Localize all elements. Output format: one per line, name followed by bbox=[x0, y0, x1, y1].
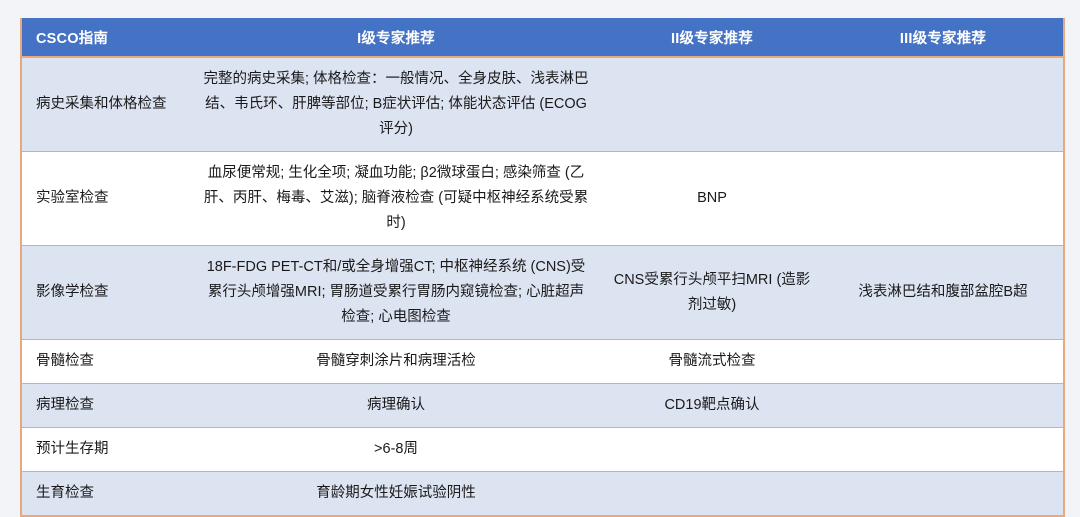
cell-level-1: 骨髓穿刺涂片和病理活检 bbox=[191, 340, 601, 384]
cell-level-3 bbox=[823, 340, 1064, 384]
cell-level-3 bbox=[823, 57, 1064, 152]
table-row: 影像学检查18F-FDG PET-CT和/或全身增强CT; 中枢神经系统 (CN… bbox=[21, 246, 1064, 340]
cell-level-2 bbox=[601, 57, 823, 152]
table-row: 生育检查育龄期女性妊娠试验阴性 bbox=[21, 472, 1064, 517]
header-row: CSCO指南 I级专家推荐 II级专家推荐 III级专家推荐 bbox=[21, 18, 1064, 57]
cell-guideline-item: 病史采集和体格检查 bbox=[21, 57, 191, 152]
cell-guideline-item: 实验室检查 bbox=[21, 152, 191, 246]
cell-level-3 bbox=[823, 428, 1064, 472]
cell-level-2: CNS受累行头颅平扫MRI (造影剂过敏) bbox=[601, 246, 823, 340]
cell-level-2: BNP bbox=[601, 152, 823, 246]
cell-level-1: 血尿便常规; 生化全项; 凝血功能; β2微球蛋白; 感染筛查 (乙肝、丙肝、梅… bbox=[191, 152, 601, 246]
table-row: 骨髓检查骨髓穿刺涂片和病理活检骨髓流式检查 bbox=[21, 340, 1064, 384]
column-header-level-2: II级专家推荐 bbox=[601, 18, 823, 57]
cell-level-2 bbox=[601, 428, 823, 472]
cell-guideline-item: 预计生存期 bbox=[21, 428, 191, 472]
cell-guideline-item: 病理检查 bbox=[21, 384, 191, 428]
cell-level-2: 骨髓流式检查 bbox=[601, 340, 823, 384]
cell-level-1: 18F-FDG PET-CT和/或全身增强CT; 中枢神经系统 (CNS)受累行… bbox=[191, 246, 601, 340]
cell-level-1: 育龄期女性妊娠试验阴性 bbox=[191, 472, 601, 517]
cell-level-1: 病理确认 bbox=[191, 384, 601, 428]
table-header: CSCO指南 I级专家推荐 II级专家推荐 III级专家推荐 bbox=[21, 18, 1064, 57]
column-header-csco-guideline: CSCO指南 bbox=[21, 18, 191, 57]
cell-level-3 bbox=[823, 152, 1064, 246]
cell-level-1: 完整的病史采集; 体格检查：一般情况、全身皮肤、浅表淋巴结、韦氏环、肝脾等部位;… bbox=[191, 57, 601, 152]
cell-level-2: CD19靶点确认 bbox=[601, 384, 823, 428]
cell-level-3 bbox=[823, 384, 1064, 428]
cell-guideline-item: 骨髓检查 bbox=[21, 340, 191, 384]
cell-level-2 bbox=[601, 472, 823, 517]
column-header-level-3: III级专家推荐 bbox=[823, 18, 1064, 57]
table-body: 病史采集和体格检查完整的病史采集; 体格检查：一般情况、全身皮肤、浅表淋巴结、韦… bbox=[21, 57, 1064, 516]
cell-level-3 bbox=[823, 472, 1064, 517]
table-row: 病史采集和体格检查完整的病史采集; 体格检查：一般情况、全身皮肤、浅表淋巴结、韦… bbox=[21, 57, 1064, 152]
table-row: 预计生存期>6-8周 bbox=[21, 428, 1064, 472]
cell-guideline-item: 影像学检查 bbox=[21, 246, 191, 340]
cell-level-3: 浅表淋巴结和腹部盆腔B超 bbox=[823, 246, 1064, 340]
table-row: 病理检查病理确认CD19靶点确认 bbox=[21, 384, 1064, 428]
cell-guideline-item: 生育检查 bbox=[21, 472, 191, 517]
csco-guideline-table: CSCO指南 I级专家推荐 II级专家推荐 III级专家推荐 病史采集和体格检查… bbox=[20, 18, 1065, 517]
table-row: 实验室检查血尿便常规; 生化全项; 凝血功能; β2微球蛋白; 感染筛查 (乙肝… bbox=[21, 152, 1064, 246]
cell-level-1: >6-8周 bbox=[191, 428, 601, 472]
column-header-level-1: I级专家推荐 bbox=[191, 18, 601, 57]
